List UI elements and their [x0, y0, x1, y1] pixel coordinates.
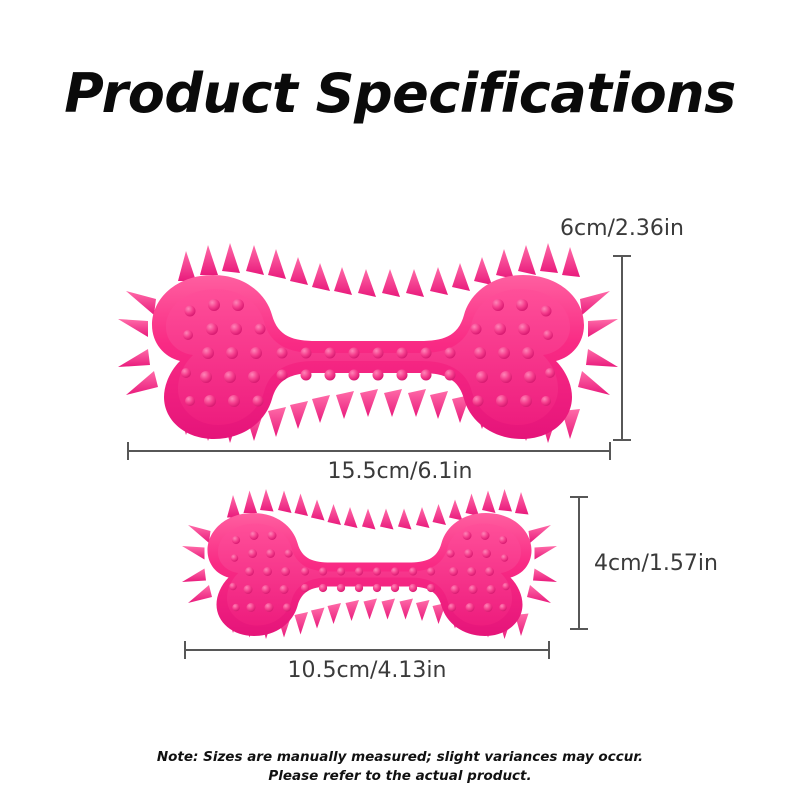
- dimension-line-large-width: [127, 450, 611, 452]
- product-specification-image: Product Specifications: [0, 0, 800, 800]
- dimension-label-large-height: 6cm/2.36in: [560, 216, 684, 241]
- dimension-line-small-width: [184, 649, 550, 651]
- dimension-line-small-height: [578, 496, 580, 630]
- page-title: Product Specifications: [0, 62, 800, 125]
- measurement-note-line-1: Note: Sizes are manually measured; sligh…: [0, 748, 800, 767]
- measurement-note-line-2: Please refer to the actual product.: [0, 767, 800, 786]
- dimension-label-large-width: 15.5cm/6.1in: [0, 459, 800, 484]
- small-spiky-bone-dog-toy: [182, 489, 557, 639]
- large-spiky-bone-dog-toy: [118, 243, 618, 443]
- dimension-label-small-height: 4cm/1.57in: [594, 551, 718, 576]
- dimension-label-small-width: 10.5cm/4.13in: [184, 658, 550, 683]
- dimension-line-large-height: [621, 255, 623, 441]
- measurement-note: Note: Sizes are manually measured; sligh…: [0, 748, 800, 786]
